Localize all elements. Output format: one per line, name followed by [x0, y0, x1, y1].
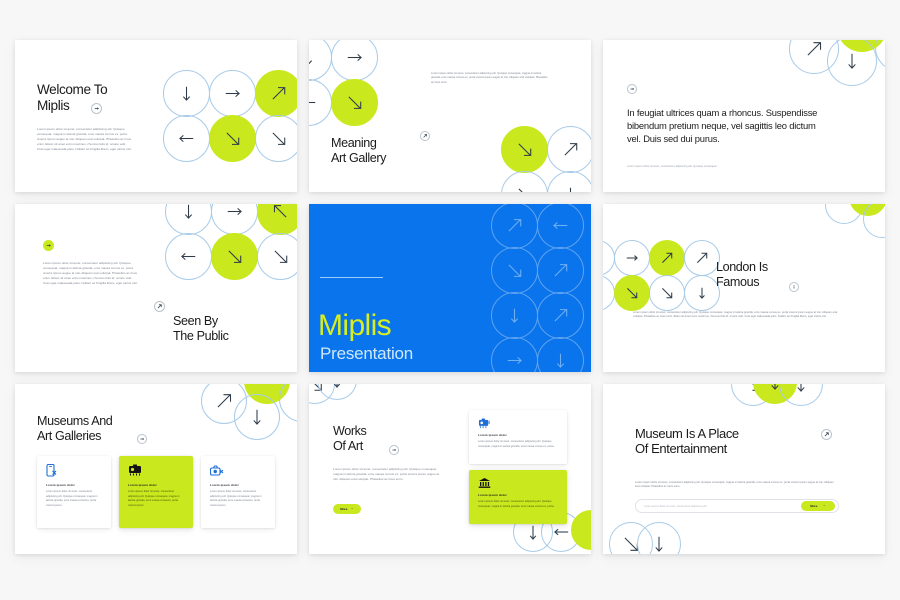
feature-card-highlight[interactable]: Lorem ipsum dolor Lorem ipsum dolor sit … [469, 470, 567, 524]
arrow-right-badge-icon[interactable] [43, 240, 54, 251]
circle-arrow-downright [255, 115, 297, 162]
circle-arrow-right [211, 204, 258, 235]
more-button-label: More [340, 507, 347, 511]
slide-museums[interactable]: Museums And Art Galleries Lorem ipsum do… [15, 384, 297, 554]
circle-arrow-right [614, 240, 650, 276]
page-title: Meaning Art Gallery [331, 136, 386, 165]
slide-london[interactable]: London Is Famous Lorem ipsum dolor sit a… [603, 204, 885, 372]
more-button-label: More [810, 504, 817, 508]
circle-arrow-left [165, 233, 212, 280]
card-body: Lorem ipsum dolor sit amet, consectetur … [46, 490, 104, 508]
projector-icon [128, 464, 142, 482]
mobile-icon [46, 464, 57, 482]
circle-arrow-downright [491, 247, 538, 294]
card-body: Lorem ipsum dolor sit amet, consectetur … [210, 490, 268, 508]
body-paragraph: Lorem ipsum dolor sit amet, consectetur … [37, 127, 133, 152]
page-title: Seen By The Public [173, 314, 229, 343]
circle-arrow-upright-lime [255, 70, 297, 117]
circle-arrow-downright [649, 275, 685, 311]
circle-arrow-down-2 [637, 522, 681, 554]
more-button[interactable]: More → [801, 501, 835, 511]
circle-arrow-left [537, 204, 584, 249]
circle-arrow-downright-lime [331, 79, 378, 126]
circle-arrow-upleft-lime [257, 204, 297, 235]
circle-arrow-down [165, 204, 212, 235]
arrow-right-badge-icon[interactable] [389, 445, 399, 455]
title-rule [320, 277, 383, 278]
camera-icon [210, 464, 224, 482]
circle-arrow-down [163, 70, 210, 117]
circle-arrow-right [331, 40, 378, 81]
card-body: Lorem ipsum dolor sit amet, consectetur … [128, 490, 186, 508]
arrow-right-badge-icon[interactable] [91, 103, 102, 114]
circle-motif [491, 204, 591, 372]
circle-arrow-down [779, 384, 823, 406]
card-title: Lorem ipsum dolor [210, 483, 239, 487]
body-paragraph: Lorem ipsum dolor sit amet, consectetur … [333, 467, 445, 482]
slide-entertainment[interactable]: Museum Is A Place Of Entertainment Lorem… [603, 384, 885, 554]
body-paragraph: Lorem ipsum dolor sit amet, consectetur … [43, 261, 139, 286]
body-paragraph: Lorem ipsum dolor sit amet, consectetur … [431, 72, 549, 86]
slide-works-of-art[interactable]: Works Of Art Lorem ipsum dolor sit amet,… [309, 384, 591, 554]
circle-motif [603, 240, 719, 310]
slide-feugiat[interactable]: In feugiat ultrices quam a rhoncus. Susp… [603, 40, 885, 192]
circle-arrow-down-2 [537, 337, 584, 372]
page-title: London Is Famous [716, 260, 768, 289]
card-title: Lorem ipsum dolor [478, 493, 507, 497]
circle-arrow-down [827, 40, 877, 86]
card-title: Lorem ipsum dolor [128, 483, 157, 487]
circle-arrow-downright-lime [211, 233, 258, 280]
page-title: Museums And Art Galleries [37, 414, 112, 443]
circle-motif [309, 40, 425, 126]
arrow-right-badge-icon[interactable] [627, 84, 637, 94]
arrow-upright-badge-icon[interactable] [821, 429, 832, 440]
arrow-right-icon: → [822, 504, 825, 507]
circle-arrow-left [163, 115, 210, 162]
card-title: Lorem ipsum dolor [46, 483, 75, 487]
page-heading: In feugiat ultrices quam a rhoncus. Susp… [627, 106, 827, 145]
circle-arrow-right [209, 70, 256, 117]
arrow-right-icon: → [350, 507, 353, 510]
circle-motif [201, 384, 297, 448]
circle-arrow-upright [684, 240, 720, 276]
cover-title: Miplis [318, 309, 391, 343]
circle-arrow-downright-lime [501, 126, 548, 173]
circle-arrow-upright-2 [537, 247, 584, 294]
slide-meaning[interactable]: Lorem ipsum dolor sit amet, consectetur … [309, 40, 591, 192]
feature-card[interactable]: Lorem ipsum dolor Lorem ipsum dolor sit … [37, 456, 111, 528]
body-paragraph: Lorem ipsum dolor sit amet, consectetur … [635, 481, 835, 490]
circle-arrow-down [491, 292, 538, 339]
arrow-upright-badge-icon[interactable] [154, 301, 165, 312]
email-field-placeholder: Lorem ipsum dolor sit amet, consectetur … [636, 505, 707, 508]
circle-arrow-down-2 [684, 275, 720, 311]
circle-motif-top [309, 384, 375, 410]
circle-arrow-downright-2 [501, 171, 548, 192]
caption-text: Lorem ipsum dolor sit amet, consectetur … [627, 165, 837, 168]
slide-deck: Welcome To Miplis Lorem ipsum dolor sit … [0, 0, 900, 600]
card-body: Lorem ipsum dolor sit amet, consectetur … [478, 440, 560, 449]
feature-card[interactable]: Lorem ipsum dolor Lorem ipsum dolor sit … [201, 456, 275, 528]
circle-arrow-down [309, 40, 332, 81]
circle-arrow-upright-lime [649, 240, 685, 276]
circle-arrow-downright-lime [209, 115, 256, 162]
circle-arrow-upright-3 [537, 292, 584, 339]
page-title: Works Of Art [333, 424, 366, 453]
circle-motif-top [731, 384, 841, 408]
circle-arrow-right [491, 337, 538, 372]
museum-icon [478, 476, 491, 494]
cover-subtitle: Presentation [320, 344, 413, 364]
arrow-upright-badge-icon[interactable] [420, 131, 430, 141]
circle-motif-corner [825, 204, 885, 236]
circle-arrow-down [234, 394, 280, 440]
circle-motif-lower [501, 126, 591, 192]
circle-arrow-upright [547, 126, 591, 173]
circle-motif-bottom [609, 522, 699, 554]
info-badge-icon[interactable] [789, 282, 799, 292]
body-paragraph: Lorem ipsum dolor sit amet, consectetur … [633, 311, 845, 320]
circle-plain-2 [863, 204, 885, 238]
circle-arrow-down-2 [547, 171, 591, 192]
slide-seen-by-public[interactable]: Lorem ipsum dolor sit amet, consectetur … [15, 204, 297, 372]
circle-plain [279, 384, 297, 422]
more-button[interactable]: More → [333, 504, 361, 514]
arrow-right-badge-icon[interactable] [137, 434, 147, 444]
slide-welcome[interactable]: Welcome To Miplis Lorem ipsum dolor sit … [15, 40, 297, 192]
feature-card[interactable]: Lorem ipsum dolor Lorem ipsum dolor sit … [469, 410, 567, 464]
circle-arrow-downright [257, 233, 297, 280]
feature-card-highlight[interactable]: Lorem ipsum dolor Lorem ipsum dolor sit … [119, 456, 193, 528]
card-title: Lorem ipsum dolor [478, 433, 507, 437]
circle-arrow-upright [491, 204, 538, 249]
slide-cover[interactable]: Miplis Presentation [309, 204, 591, 372]
circle-arrow-left [309, 79, 332, 126]
circle-motif [165, 204, 297, 280]
circle-plain [875, 40, 885, 72]
page-title: Museum Is A Place Of Entertainment [635, 427, 739, 457]
card-body: Lorem ipsum dolor sit amet, consectetur … [478, 500, 560, 509]
circle-arrow-down [317, 384, 357, 400]
circle-motif [789, 40, 885, 98]
circle-motif [163, 70, 297, 162]
circle-arrow-downright-lime [614, 275, 650, 311]
